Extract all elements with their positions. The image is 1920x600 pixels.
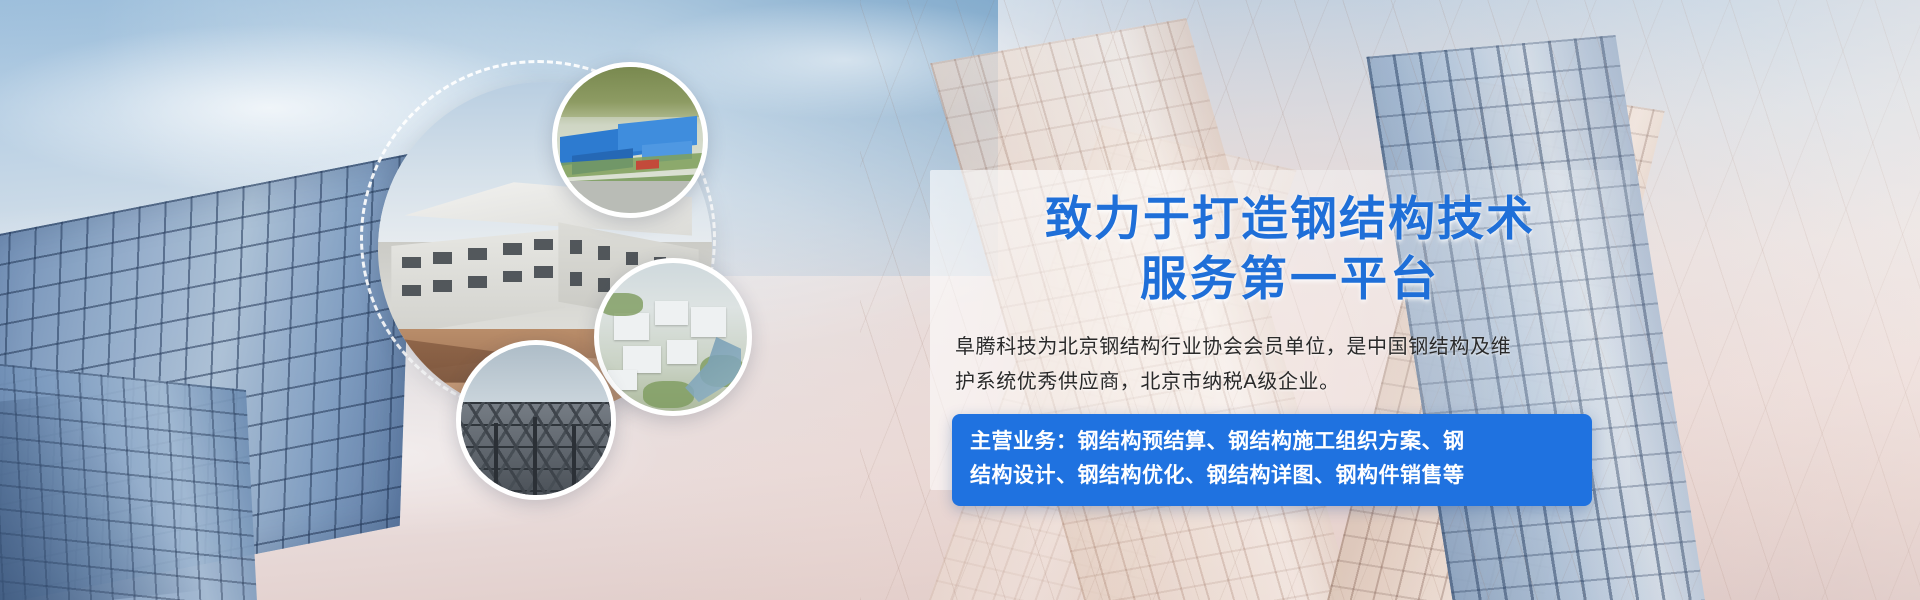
description-text: 阜腾科技为北京钢结构行业协会会员单位，是中国钢结构及维 护系统优秀供应商，北京市… xyxy=(955,330,1615,400)
photo-blue-roof-factory-aerial xyxy=(552,62,708,218)
hero-banner: 致力于打造钢结构技术 服务第一平台 阜腾科技为北京钢结构行业协会会员单位，是中国… xyxy=(0,0,1920,600)
headline: 致力于打造钢结构技术 服务第一平台 xyxy=(960,190,1620,310)
photo-steel-truss-roof xyxy=(456,340,616,500)
business-scope-box[interactable]: 主营业务：钢结构预结算、钢结构施工组织方案、钢 结构设计、钢结构优化、钢结构详图… xyxy=(952,414,1592,506)
business-scope-line-2: 结构设计、钢结构优化、钢结构详图、钢构件销售等 xyxy=(970,459,1574,493)
photo-industrial-campus-aerial xyxy=(594,258,752,416)
headline-line-2: 服务第一平台 xyxy=(960,250,1620,310)
business-scope-line-1: 主营业务：钢结构预结算、钢结构施工组织方案、钢 xyxy=(970,425,1574,459)
photo-truss-sky xyxy=(461,345,611,408)
photo-circle-cluster xyxy=(360,40,840,540)
photo-parking-lot xyxy=(557,181,703,213)
description-line-2: 护系统优秀供应商，北京市纳税A级企业。 xyxy=(955,365,1615,400)
headline-line-1: 致力于打造钢结构技术 xyxy=(960,190,1620,250)
photo-building-face-left xyxy=(391,229,565,336)
photo-treeline xyxy=(557,67,703,117)
glass-building-left-shadow xyxy=(0,378,220,600)
description-line-1: 阜腾科技为北京钢结构行业协会会员单位，是中国钢结构及维 xyxy=(955,330,1615,365)
